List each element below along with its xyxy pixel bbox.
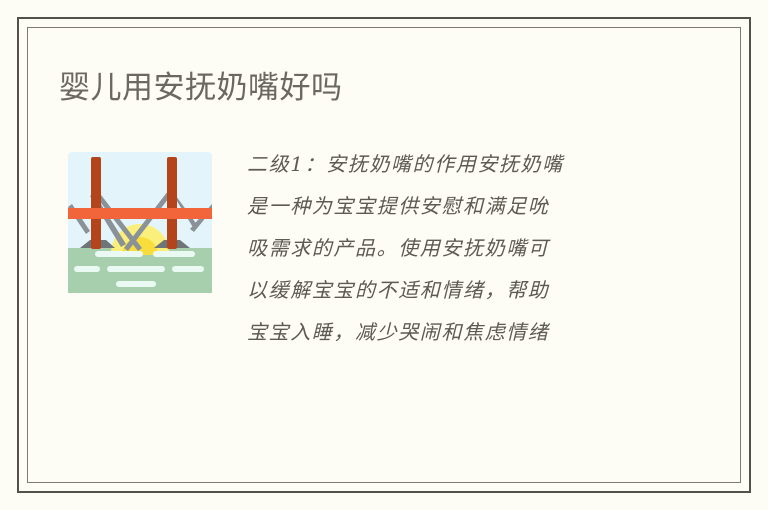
article-card: 婴儿用安抚奶嘴好吗 bbox=[17, 17, 751, 493]
body-line: 是一种为宝宝提供安慰和满足吮 bbox=[247, 185, 697, 227]
body-line: 吸需求的产品。使用安抚奶嘴可 bbox=[247, 227, 697, 269]
suspension-bridge-sunset-illustration bbox=[68, 152, 212, 293]
article-body-text: 二级1：安抚奶嘴的作用安抚奶嘴 是一种为宝宝提供安慰和满足吮 吸需求的产品。使用… bbox=[247, 143, 697, 353]
body-line: 二级1：安抚奶嘴的作用安抚奶嘴 bbox=[247, 143, 697, 185]
body-line: 宝宝入睡，减少哭闹和焦虑情绪 bbox=[247, 311, 697, 353]
page-title: 婴儿用安抚奶嘴好吗 bbox=[59, 69, 343, 108]
body-line: 以缓解宝宝的不适和情绪，帮助 bbox=[247, 269, 697, 311]
